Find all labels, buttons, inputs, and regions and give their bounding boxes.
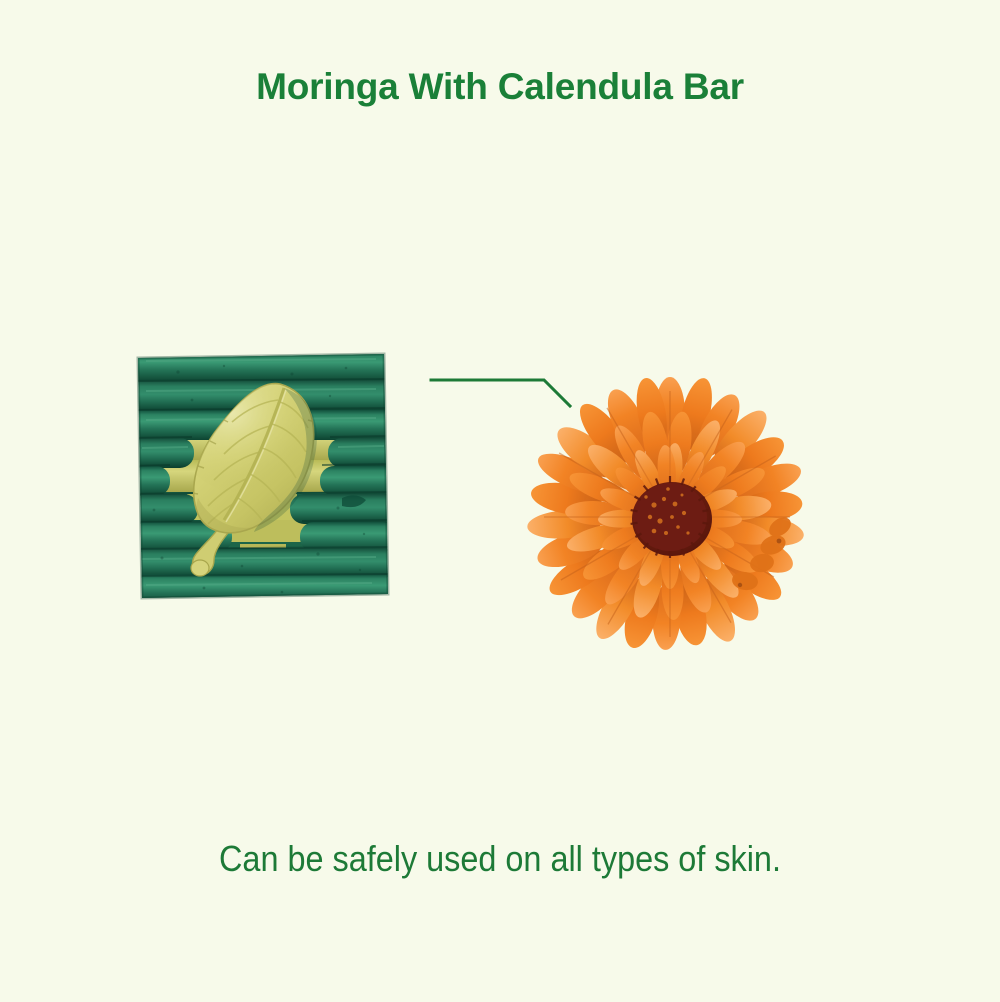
soap-bar-image [132,348,392,604]
product-infographic: Moringa With Calendula Bar [0,0,1000,1002]
calendula-flower-image [540,395,816,641]
flower-petals [526,375,805,652]
caption-text: Can be safely used on all types of skin. [50,838,950,880]
page-title: Moringa With Calendula Bar [0,66,1000,108]
